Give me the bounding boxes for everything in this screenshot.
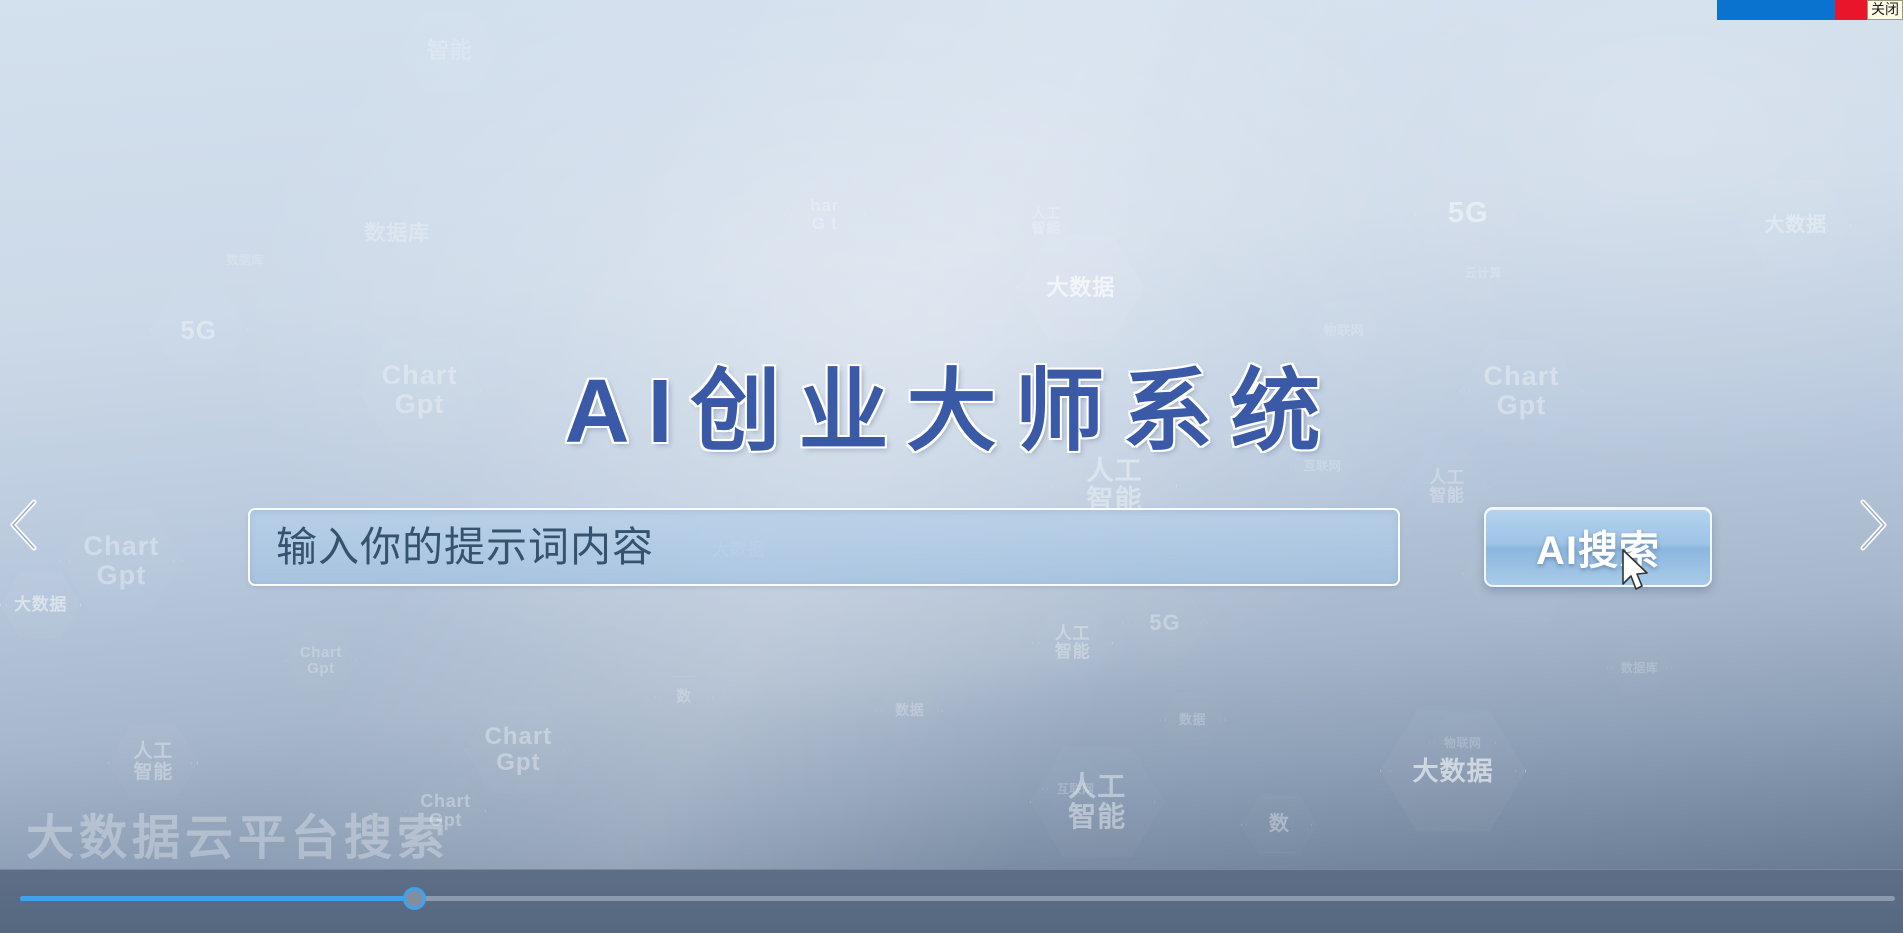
hexagon-outline — [465, 704, 572, 796]
hexagon-inner-outline — [1422, 174, 1514, 253]
hexagon-outline — [1032, 608, 1113, 678]
background-hexagon: 人工 智能 — [1032, 608, 1113, 678]
page-watermark: 大数据云平台搜索 — [26, 798, 450, 868]
hexagon-label: 人工 智能 — [1055, 625, 1090, 662]
hexagon-inner-outline — [790, 185, 860, 245]
hexagon-label: 数据库 — [365, 223, 431, 246]
hexagon-inner-outline — [659, 676, 709, 719]
background-hexagon: Chart Gpt — [285, 630, 357, 692]
bottom-bar — [0, 869, 1903, 933]
hexagon-outline — [337, 182, 458, 286]
background-hexagon: 5G — [1122, 586, 1208, 660]
hexagon-inner-outline — [472, 710, 564, 789]
background-hexagon: 数据 — [876, 682, 943, 740]
progress-slider-handle[interactable] — [403, 887, 426, 910]
background-hexagon: 人工 智能 — [1010, 190, 1082, 252]
hexagon-inner-outline — [1039, 752, 1155, 852]
background-hexagon: 数 — [1241, 792, 1318, 858]
background-hexagon: 数 — [655, 672, 713, 722]
hexagon-label: Chart Gpt — [300, 645, 342, 677]
hexagon-inner-outline — [1612, 644, 1668, 692]
hexagon-label: har G t — [810, 197, 839, 234]
hexagon-label: 数据 — [1179, 713, 1206, 727]
ai-search-button[interactable]: AI搜索 — [1484, 507, 1712, 587]
hexagon-label: 物联网 — [1444, 737, 1481, 750]
chevron-right-icon[interactable] — [1851, 494, 1895, 556]
hexagon-outline — [876, 682, 943, 740]
hexagon-inner-outline — [290, 634, 352, 687]
ai-search-landing-page: 数据库大数据大数据大数据大数据5G5G5G5GChart GptChart Gp… — [0, 0, 1903, 933]
hexagon-outline — [0, 570, 81, 640]
background-hexagon: 数据库 — [337, 182, 458, 286]
hexagon-outline — [1607, 640, 1672, 696]
hexagon-outline — [1042, 760, 1109, 818]
hexagon-inner-outline — [1026, 241, 1136, 336]
hexagon-outline — [655, 672, 713, 722]
hexagon-outline — [1017, 233, 1145, 343]
hexagon-outline — [1415, 168, 1522, 260]
hexagon-inner-outline — [69, 515, 175, 606]
hexagon-outline — [285, 630, 357, 692]
hexagon-label: 人工 智能 — [133, 742, 173, 783]
search-row: AI搜索 — [248, 508, 1718, 586]
hexagon-outline — [1452, 246, 1515, 300]
hexagon-label: 数据库 — [1621, 662, 1658, 675]
hexagon-label: 数 — [676, 689, 692, 705]
progress-slider[interactable] — [20, 896, 1895, 901]
background-hexagon: 5G — [1415, 168, 1522, 260]
hexagon-inner-outline — [1128, 591, 1202, 655]
hexagon-inner-outline — [1456, 250, 1510, 296]
hexagon-label: 人工 智能 — [1068, 772, 1126, 832]
background-hexagon: 互联网 — [1042, 760, 1109, 818]
hexagon-label: 物联网 — [1324, 324, 1365, 338]
hexagon-label: 数据 — [895, 703, 924, 718]
hexagon-inner-outline — [1246, 797, 1312, 854]
background-hexagon: 大数据 — [1017, 233, 1145, 343]
background-hexagon: 人工 智能 — [1030, 744, 1165, 860]
hexagon-inner-outline — [1038, 613, 1108, 673]
hexagon-inner-outline — [1390, 717, 1516, 825]
hexagon-label: 大数据 — [14, 596, 67, 614]
hexagon-label: Chart Gpt — [84, 532, 160, 590]
hexagon-outline — [784, 180, 865, 250]
window-controls: 关闭 — [1717, 0, 1903, 20]
search-input[interactable] — [248, 508, 1400, 586]
background-hexagon: 大数据 — [0, 570, 81, 640]
hexagon-label: 智能 — [427, 39, 473, 63]
background-hexagon: har G t — [784, 180, 865, 250]
hexagon-label: 大数据 — [1764, 215, 1826, 237]
hexagon-outline — [60, 508, 183, 614]
background-hexagon: Chart Gpt — [465, 704, 572, 796]
hexagon-inner-outline — [1047, 764, 1105, 814]
hexagon-outline — [215, 234, 275, 286]
hexagon-inner-outline — [881, 686, 939, 736]
hexagon-label: 5G — [1149, 611, 1180, 635]
close-tooltip: 关闭 — [1867, 0, 1903, 20]
hexagon-inner-outline — [345, 189, 449, 278]
window-titlebar-strip — [1717, 0, 1835, 20]
hexagon-inner-outline — [1434, 718, 1492, 768]
hexagon-outline — [1010, 190, 1082, 252]
background-hexagon: 云计算 — [1452, 246, 1515, 300]
background-hexagon: 智能 — [400, 8, 500, 94]
hexagon-outline — [1380, 708, 1526, 834]
background-hexagon: 数据库 — [1607, 640, 1672, 696]
window-close-button[interactable] — [1835, 0, 1867, 20]
hexagon-label: 互联网 — [1057, 783, 1094, 796]
hexagon-outline — [108, 724, 198, 802]
hexagon-outline — [1122, 586, 1208, 660]
hexagon-label: Chart Gpt — [485, 724, 552, 776]
hexagon-outline — [400, 8, 500, 94]
hexagon-label: 人工 智能 — [1031, 206, 1060, 236]
chevron-left-icon[interactable] — [2, 494, 46, 556]
hexagon-label: 数据库 — [226, 254, 263, 267]
hexagon-outline — [1030, 744, 1165, 860]
hexagon-inner-outline — [1748, 185, 1844, 268]
hexagon-label: 大数据 — [1413, 757, 1494, 785]
background-hexagon: 物联网 — [1429, 714, 1496, 772]
hexagon-inner-outline — [219, 238, 271, 283]
hexagon-outline — [1241, 792, 1318, 858]
background-hexagon: 数据 — [1160, 692, 1225, 748]
background-hexagon: 人工 智能 — [108, 724, 198, 802]
hexagon-inner-outline — [114, 729, 192, 796]
hexagon-label: 5G — [1448, 198, 1489, 229]
hexagon-inner-outline — [1165, 696, 1221, 744]
hexagon-inner-outline — [1015, 194, 1077, 247]
progress-slider-fill — [20, 896, 414, 901]
hexagon-inner-outline — [6, 575, 76, 635]
hexagon-outline — [1429, 714, 1496, 772]
background-hexagon: 大数据 — [1740, 178, 1851, 274]
background-hexagon: 数据库 — [215, 234, 275, 286]
hexagon-outline — [1740, 178, 1851, 274]
ai-search-button-label: AI搜索 — [1536, 518, 1660, 576]
hexagon-label: 大数据 — [1046, 276, 1115, 300]
hexagon-label: 云计算 — [1465, 267, 1502, 280]
page-title: AI创业大师系统 — [0, 338, 1903, 468]
hexagon-label: 数 — [1269, 814, 1290, 836]
hexagon-label: 人工 智能 — [1429, 469, 1464, 506]
hexagon-outline — [1160, 692, 1225, 748]
background-hexagon: 大数据 — [1380, 708, 1526, 834]
background-hexagon: Chart Gpt — [60, 508, 183, 614]
hexagon-inner-outline — [407, 14, 493, 88]
